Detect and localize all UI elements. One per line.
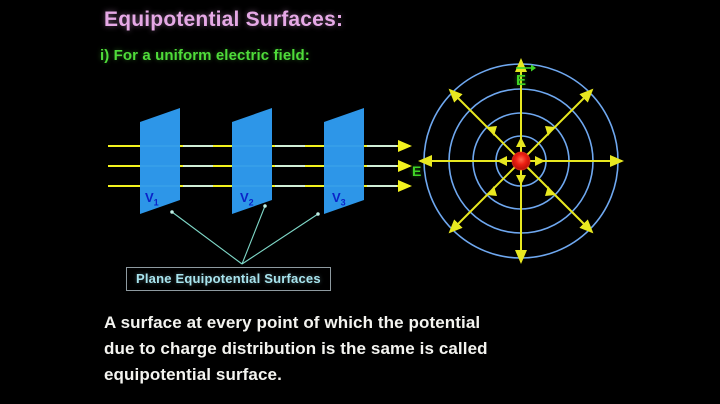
- uniform-field-label-e: E: [412, 163, 421, 179]
- plane-label-v2: V2: [240, 190, 254, 208]
- radial-field-label-e: E: [516, 72, 526, 89]
- definition-paragraph: A surface at every point of which the po…: [104, 310, 644, 388]
- definition-line-1: A surface at every point of which the po…: [104, 310, 644, 336]
- plane-label-v3: V3: [332, 190, 346, 208]
- callout-leader-lines: [172, 206, 318, 264]
- point-charge: [512, 152, 530, 170]
- definition-line-3: equipotential surface.: [104, 362, 644, 388]
- definition-line-2: due to charge distribution is the same i…: [104, 336, 644, 362]
- plane-label-v1: V1: [145, 190, 159, 208]
- slide-canvas: Equipotential Surfaces: i) For a uniform…: [0, 0, 720, 404]
- callout-plane-equipotential-surfaces: Plane Equipotential Surfaces: [126, 267, 331, 291]
